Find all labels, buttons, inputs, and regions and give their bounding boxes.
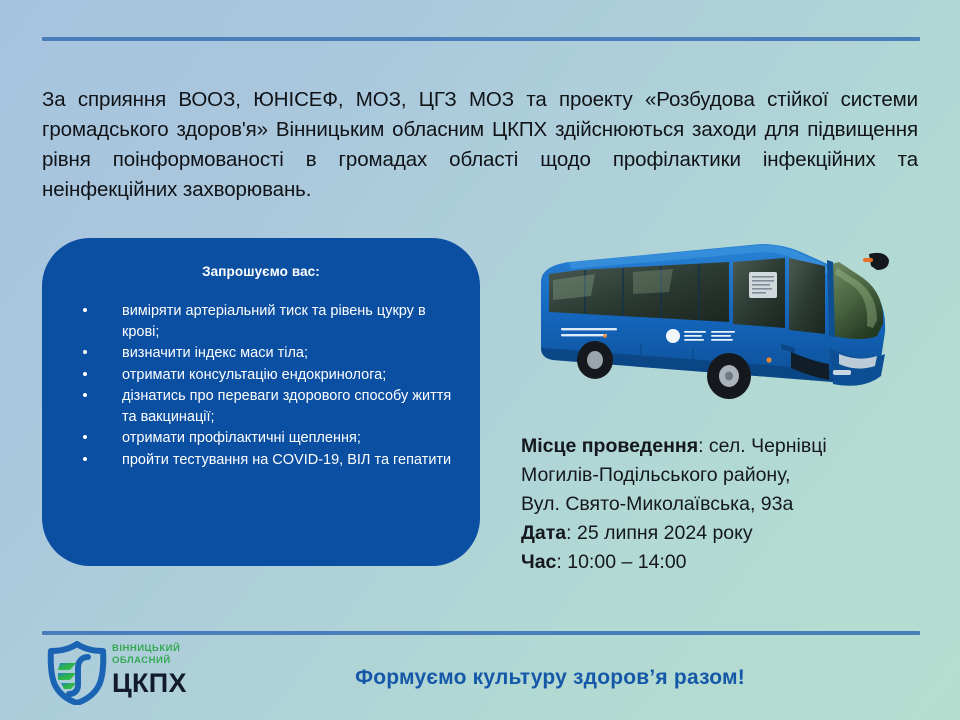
event-place-line2: Могилів-Подільського району,: [521, 461, 941, 490]
bullet-icon: [83, 457, 87, 461]
bullet-icon: [83, 308, 87, 312]
list-item-label: визначити індекс маси тіла;: [122, 345, 308, 361]
invitation-card-title: Запрошуємо вас:: [60, 264, 462, 279]
organization-logo: ВІННИЦЬКИЙ ОБЛАСНИЙ ЦКПХ: [46, 641, 236, 707]
shield-icon: [46, 641, 108, 705]
mobile-clinic-bus-photo: [533, 236, 895, 414]
list-item-label: пройти тестування на COVID-19, ВІЛ та ге…: [122, 452, 451, 468]
logo-text-block: ВІННИЦЬКИЙ ОБЛАСНИЙ ЦКПХ: [112, 643, 236, 698]
event-time-line: Час: 10:00 – 14:00: [521, 548, 941, 577]
list-item: пройти тестування на COVID-19, ВІЛ та ге…: [60, 450, 462, 471]
event-place-line3: Вул. Свято-Миколаївська, 93а: [521, 490, 941, 519]
event-date-value: : 25 липня 2024 року: [566, 522, 753, 544]
list-item: визначити індекс маси тіла;: [60, 343, 462, 364]
logo-acronym: ЦКПХ: [112, 668, 236, 698]
list-item: виміряти артеріальний тиск та рівень цук…: [60, 301, 462, 342]
list-item-label: отримати профілактичні щеплення;: [122, 430, 361, 446]
divider-bottom: [42, 631, 920, 635]
event-details: Місце проведення: сел. Чернівці Могилів-…: [521, 432, 941, 577]
event-place-label: Місце проведення: [521, 435, 698, 457]
footer-slogan: Формуємо культуру здоров’я разом!: [240, 666, 860, 690]
list-item: дізнатись про переваги здорового способу…: [60, 386, 462, 427]
event-date-label: Дата: [521, 522, 566, 544]
bullet-icon: [83, 393, 87, 397]
event-place-value: : сел. Чернівці: [698, 435, 827, 457]
invitation-card: Запрошуємо вас: виміряти артеріальний ти…: [42, 238, 480, 566]
bullet-icon: [83, 435, 87, 439]
invitation-list: виміряти артеріальний тиск та рівень цук…: [60, 301, 462, 470]
event-time-label: Час: [521, 551, 556, 573]
list-item: отримати профілактичні щеплення;: [60, 428, 462, 449]
event-place-line: Місце проведення: сел. Чернівці: [521, 432, 941, 461]
bullet-icon: [83, 372, 87, 376]
list-item-label: отримати консультацію ендокринолога;: [122, 367, 386, 383]
event-date-line: Дата: 25 липня 2024 року: [521, 519, 941, 548]
event-time-value: : 10:00 – 14:00: [556, 551, 686, 573]
bullet-icon: [83, 350, 87, 354]
divider-top: [42, 37, 920, 41]
list-item-label: виміряти артеріальний тиск та рівень цук…: [122, 303, 426, 340]
poster-canvas: За сприяння ВООЗ, ЮНІСЕФ, МОЗ, ЦГЗ МОЗ т…: [0, 0, 960, 720]
list-item: отримати консультацію ендокринолога;: [60, 365, 462, 386]
logo-line-1: ВІННИЦЬКИЙ: [112, 643, 236, 655]
list-item-label: дізнатись про переваги здорового способу…: [122, 388, 451, 425]
logo-line-2: ОБЛАСНИЙ: [112, 655, 236, 667]
headline-paragraph: За сприяння ВООЗ, ЮНІСЕФ, МОЗ, ЦГЗ МОЗ т…: [42, 85, 918, 205]
